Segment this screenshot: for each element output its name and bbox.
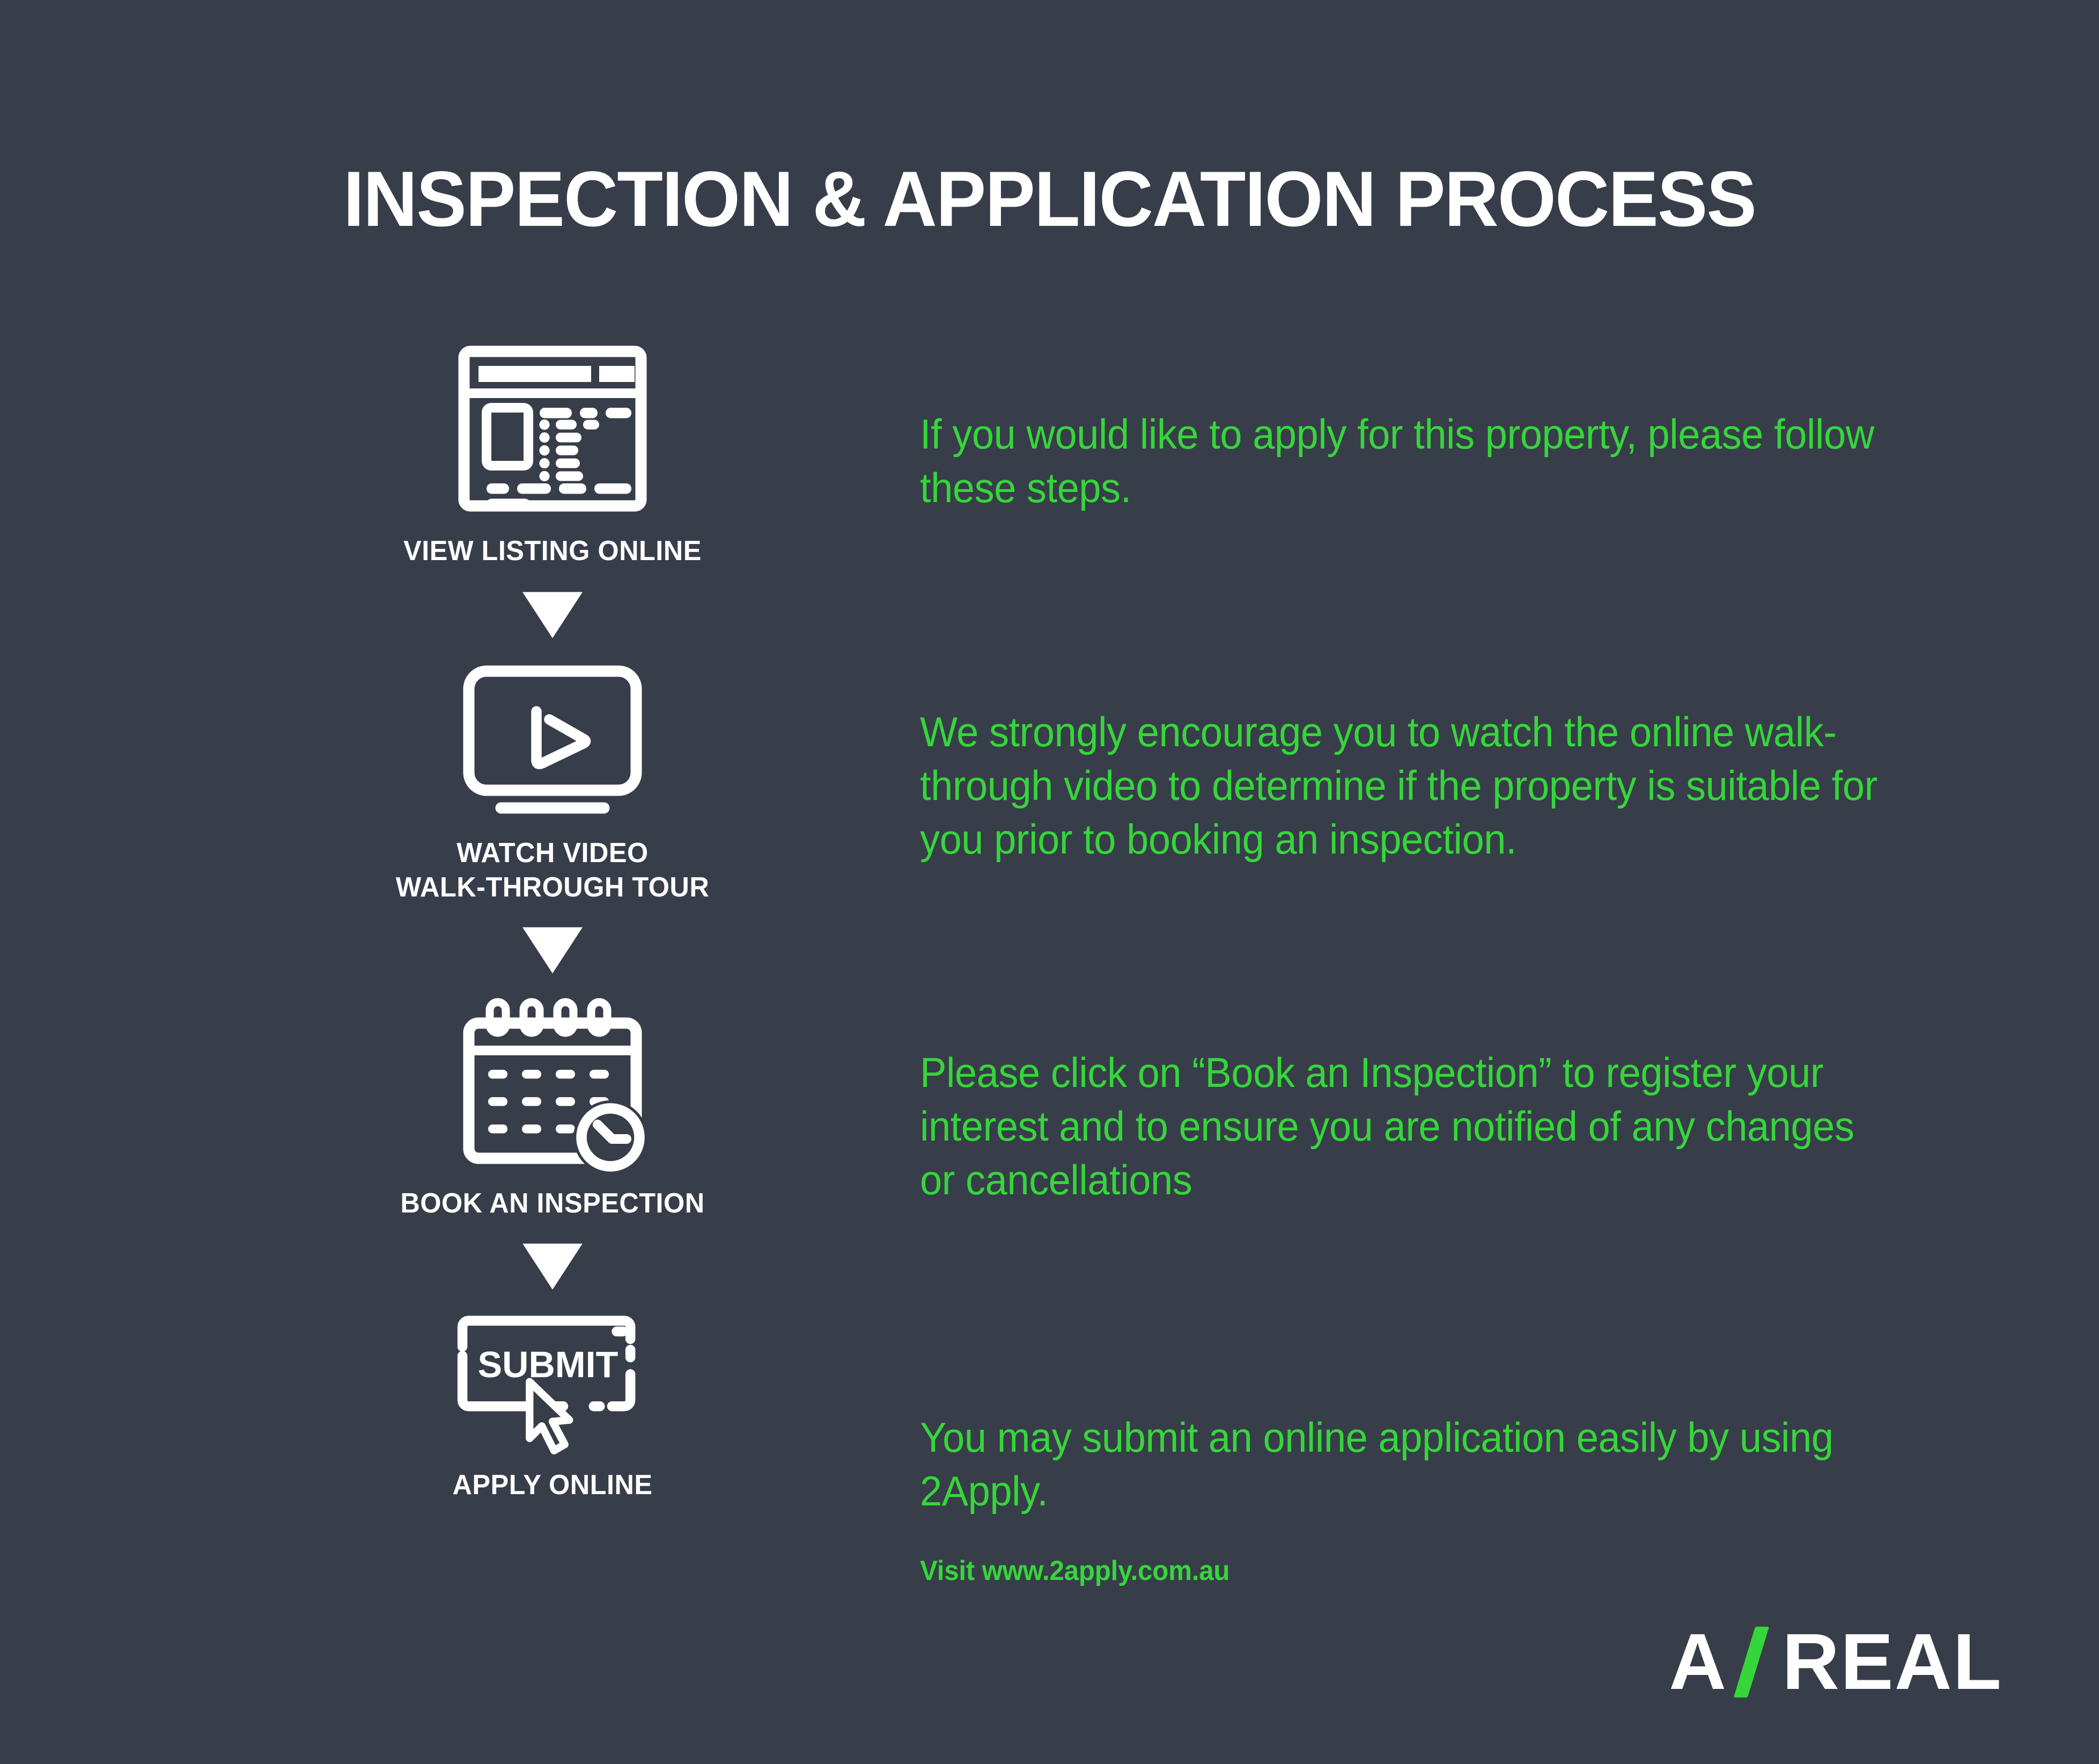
page-title: INSPECTION & APPLICATION PROCESS [42,160,2057,238]
submit-icon-text: SUBMIT [478,1344,618,1385]
brand-logo: A REAL [1669,1625,2002,1700]
calendar-clock-icon [247,996,858,1173]
step-apply-online: SUBMIT APPLY ONLINE [247,1312,858,1502]
triangle-down-icon [247,592,858,638]
submit-cursor-icon: SUBMIT [247,1312,858,1454]
step-label-line-2: WALK-THROUGH TOUR [256,871,849,905]
logo-letter-a: A [1669,1622,1727,1702]
process-flow: VIEW LISTING ONLINE WATCH VIDEO WALK-THR… [247,343,858,1502]
step-watch-video: WATCH VIDEO WALK-THROUGH TOUR [247,661,858,905]
infographic-poster: INSPECTION & APPLICATION PROCESS [0,0,2099,1764]
step-book-inspection: BOOK AN INSPECTION [247,996,858,1221]
logo-slash-icon [1735,1627,1772,1697]
triangle-down-icon [247,1244,858,1290]
copy-view-listing: If you would like to apply for this prop… [920,408,1965,515]
logo-word-real: REAL [1782,1622,2002,1702]
video-play-icon [247,661,858,822]
step-view-listing: VIEW LISTING ONLINE [247,343,858,568]
visit-url-text[interactable]: Visit www.2apply.com.au [920,1555,1229,1587]
copy-watch-video: We strongly encourage you to watch the o… [920,705,1929,866]
triangle-down-icon [247,927,858,973]
step-label-watch-video: WATCH VIDEO WALK-THROUGH TOUR [256,836,849,905]
step-label-view-listing: VIEW LISTING ONLINE [256,534,849,568]
copy-book-inspection: Please click on “Book an Inspection” to … [920,1046,1888,1207]
listing-page-icon [247,343,858,520]
step-label-apply-online: APPLY ONLINE [256,1468,849,1502]
step-label-book-inspection: BOOK AN INSPECTION [256,1187,849,1221]
copy-apply-online: You may submit an online application eas… [920,1411,1888,1518]
step-label-line-1: WATCH VIDEO [256,836,849,870]
